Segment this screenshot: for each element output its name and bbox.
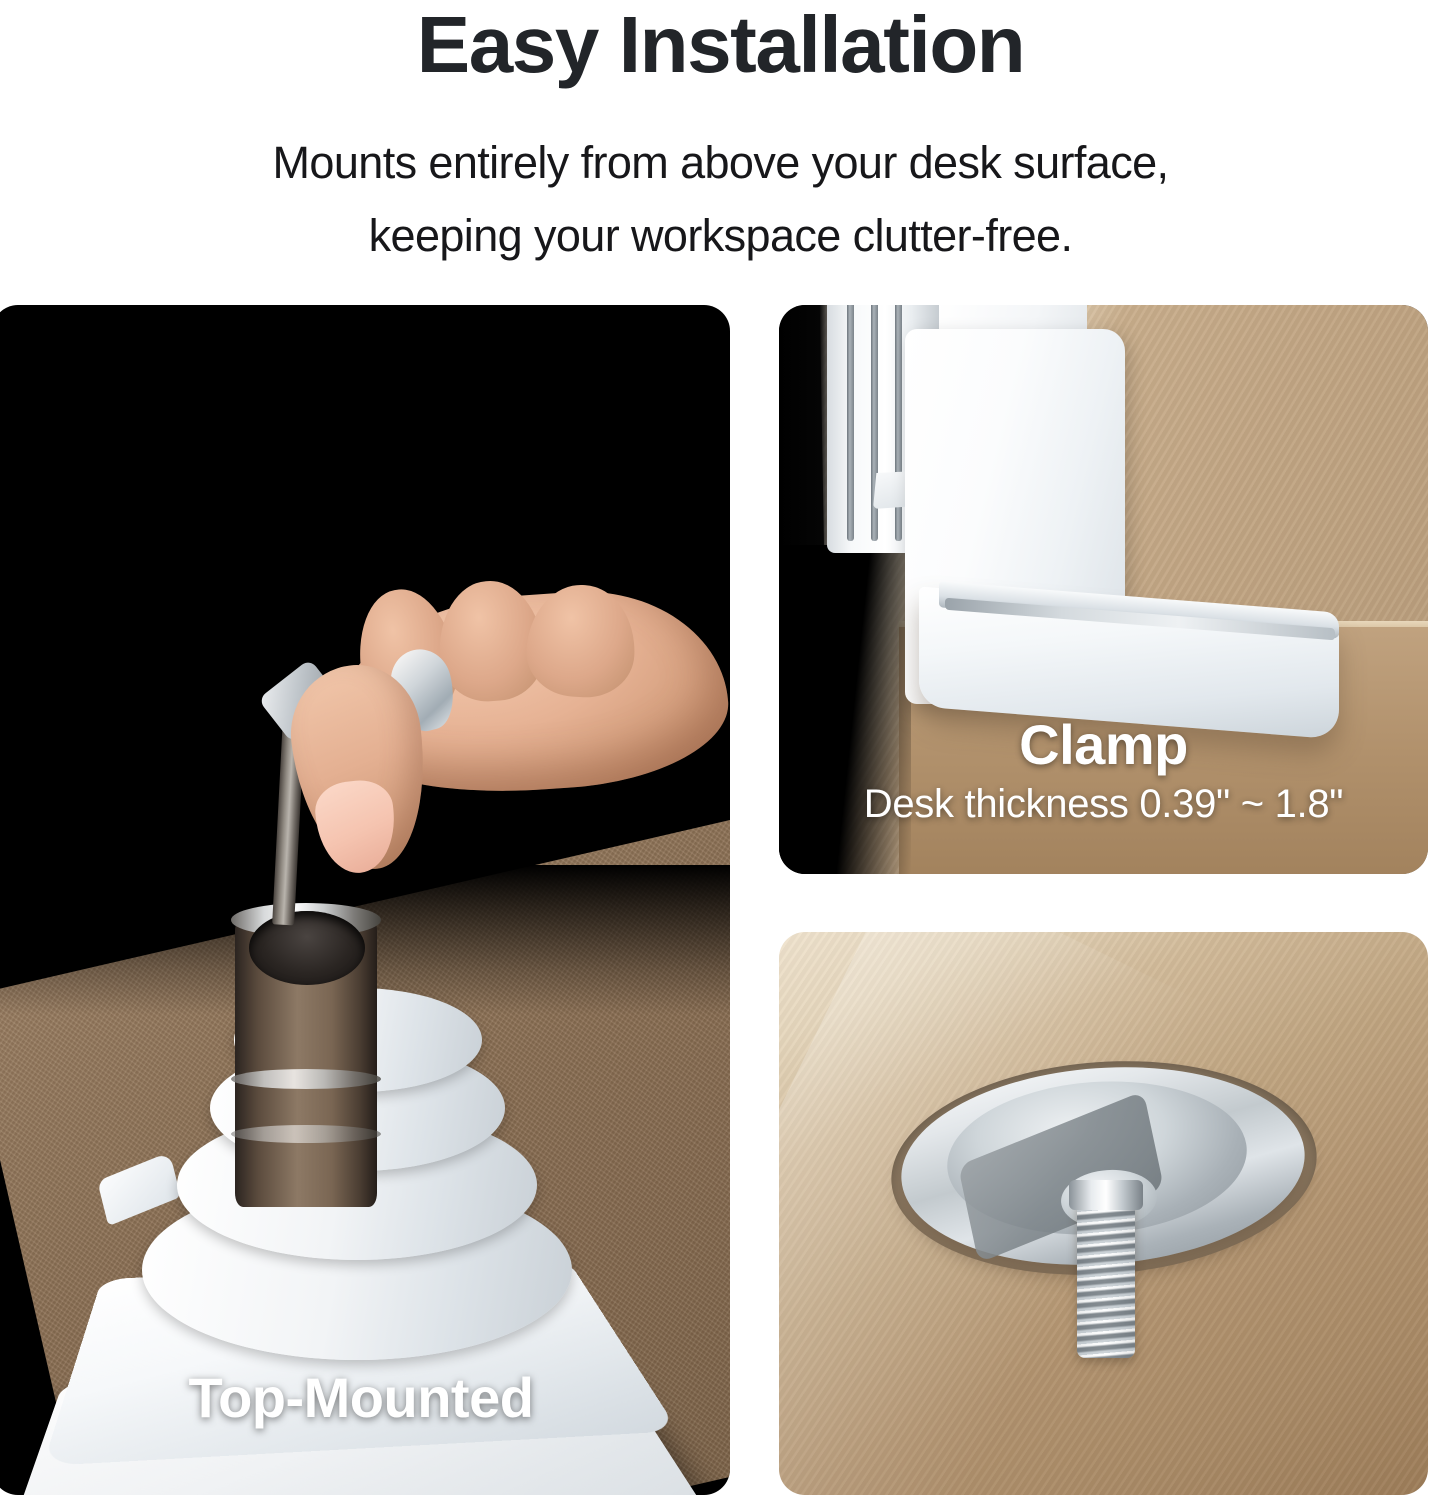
page-subtitle: Mounts entirely from above your desk sur… bbox=[0, 126, 1441, 272]
grommet-threaded-bolt bbox=[1077, 1190, 1135, 1358]
panel-clamp[interactable]: Clamp Desk thickness 0.39" ~ 1.8" bbox=[779, 305, 1428, 874]
infographic-page: Easy Installation Mounts entirely from a… bbox=[0, 0, 1441, 1500]
page-subtitle-line2: keeping your workspace clutter-free. bbox=[0, 199, 1441, 272]
post-ring-lower bbox=[231, 1125, 381, 1143]
post-ring-middle bbox=[231, 1069, 381, 1089]
post-bore-opening bbox=[249, 911, 365, 985]
page-title: Easy Installation bbox=[0, 2, 1441, 88]
clamp-arm-groove-1 bbox=[847, 305, 854, 541]
page-subtitle-line1: Mounts entirely from above your desk sur… bbox=[0, 126, 1441, 199]
grommet-bolt-collar bbox=[1069, 1180, 1143, 1210]
base-side-tab bbox=[97, 1152, 181, 1226]
panel-grommet[interactable]: Grommet Desk thickness 0.39" ~ 1.6" bbox=[779, 932, 1428, 1495]
hand bbox=[217, 595, 717, 885]
header: Easy Installation Mounts entirely from a… bbox=[0, 0, 1441, 300]
panel-top-mounted[interactable]: Top-Mounted bbox=[0, 305, 730, 1495]
clamp-dark-backdrop-lower bbox=[779, 545, 911, 874]
